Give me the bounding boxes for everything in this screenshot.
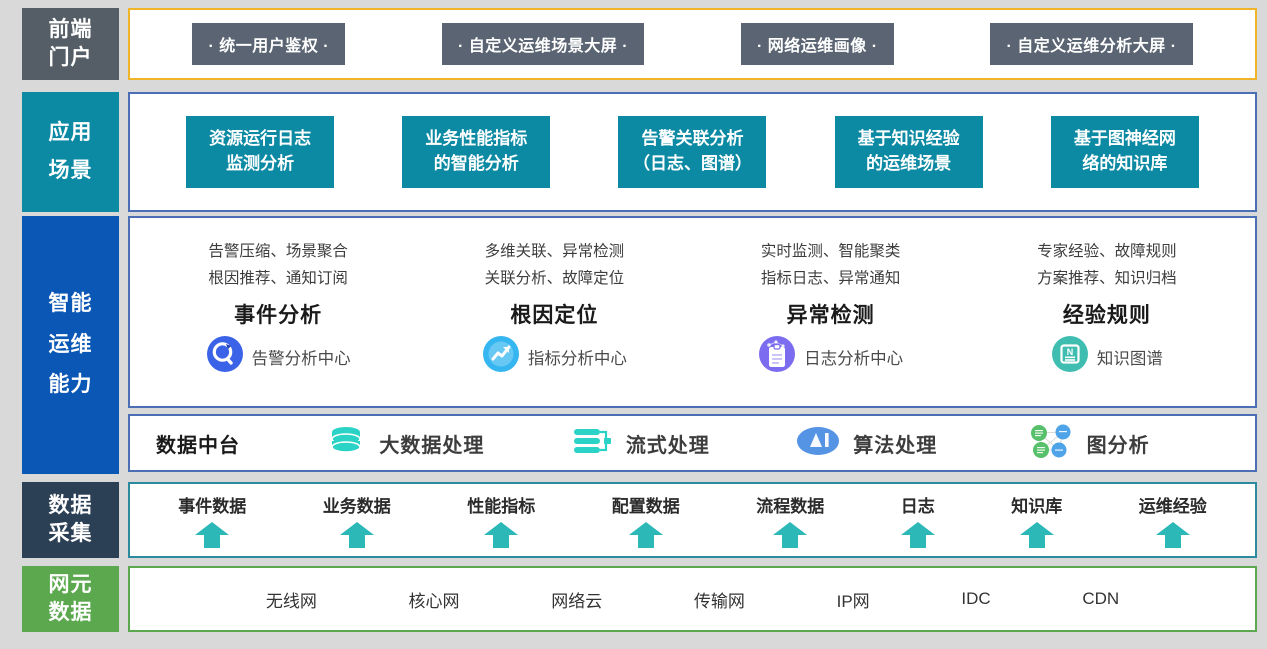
capability-title-anomaly-detection: 异常检测 <box>787 299 875 329</box>
app-chip-alarm-correlation[interactable]: 告警关联分析 （日志、图谱） <box>618 116 766 188</box>
layer-label-intelligent-ops-line1: 智能 <box>49 290 93 318</box>
collection-item-label: 事件数据 <box>178 492 246 517</box>
collection-item-label: 知识库 <box>1011 492 1062 517</box>
app-chip-gnn-knowledge-base-line2: 络的知识库 <box>1082 152 1167 177</box>
up-arrow-icon <box>629 522 663 548</box>
collection-item-label: 日志 <box>901 492 935 517</box>
capability-product-label: 告警分析中心 <box>252 345 351 369</box>
app-chip-alarm-correlation-line1: 告警关联分析 <box>641 127 743 152</box>
app-chip-knowledge-ops[interactable]: 基于知识经验 的运维场景 <box>835 116 983 188</box>
platform-item-label: 图分析 <box>1087 429 1150 458</box>
ne-item-core[interactable]: 核心网 <box>409 587 460 612</box>
ne-item-cdn[interactable]: CDN <box>1082 589 1119 609</box>
layer-label-data-collection: 数据 采集 <box>22 482 119 558</box>
up-arrow-icon <box>195 522 229 548</box>
ne-item-network-cloud[interactable]: 网络云 <box>551 587 602 612</box>
up-arrow-icon <box>1020 522 1054 548</box>
collection-item-label: 配置数据 <box>612 492 680 517</box>
app-chip-business-kpi-line1: 业务性能指标 <box>425 127 527 152</box>
capability-bullet: 方案推荐、知识归档 <box>1037 265 1177 292</box>
capability-product-label: 指标分析中心 <box>528 345 627 369</box>
layer-label-application-line2: 场景 <box>49 157 93 185</box>
alarm-search-icon <box>206 335 244 378</box>
layer-label-application-line1: 应用 <box>49 119 93 147</box>
layer-label-network-element-line1: 网元 <box>49 571 93 599</box>
capability-bullet: 关联分析、故障定位 <box>485 265 625 292</box>
capability-column-anomaly-detection: 实时监测、智能聚类 指标日志、异常通知 异常检测 <box>693 224 969 406</box>
layer-label-portal-line1: 前端 <box>49 16 93 44</box>
layer-label-intelligent-ops-line2: 运维 <box>49 331 93 359</box>
stream-icon <box>570 424 614 463</box>
app-chip-alarm-correlation-line2: （日志、图谱） <box>633 152 752 177</box>
network-element-content: 无线网 核心网 网络云 传输网 IP网 IDC CDN <box>128 566 1257 632</box>
architecture-diagram: 前端 门户 · 统一用户鉴权 · · 自定义运维场景大屏 · · 网络运维画像 … <box>0 0 1267 649</box>
capability-bullet: 专家经验、故障规则 <box>1037 238 1177 265</box>
log-clipboard-icon <box>758 335 796 378</box>
capability-bullet: 多维关联、异常检测 <box>485 238 625 265</box>
capability-product-label: 日志分析中心 <box>804 345 903 369</box>
app-chip-resource-log[interactable]: 资源运行日志 监测分析 <box>186 116 334 188</box>
capability-product-alarm-center[interactable]: 告警分析中心 <box>206 335 351 378</box>
layer-label-network-element-line2: 数据 <box>49 599 93 627</box>
ne-item-transport[interactable]: 传输网 <box>694 587 745 612</box>
up-arrow-icon <box>340 522 374 548</box>
database-icon <box>325 424 367 463</box>
collection-item-logs[interactable]: 日志 <box>901 492 935 548</box>
capability-title-experience-rules: 经验规则 <box>1063 299 1151 329</box>
capability-product-label: 知识图谱 <box>1097 345 1163 369</box>
data-platform-panel: 数据中台 大数据处理 <box>128 414 1257 472</box>
app-chip-business-kpi[interactable]: 业务性能指标 的智能分析 <box>402 116 550 188</box>
ai-icon <box>795 424 841 463</box>
collection-item-performance-kpi[interactable]: 性能指标 <box>467 492 535 548</box>
layer-row-portal: 前端 门户 · 统一用户鉴权 · · 自定义运维场景大屏 · · 网络运维画像 … <box>22 8 1257 80</box>
app-chip-gnn-knowledge-base-line1: 基于图神经网 <box>1074 127 1176 152</box>
app-chip-resource-log-line2: 监测分析 <box>226 152 294 177</box>
layer-label-portal-line2: 门户 <box>49 44 93 72</box>
layer-row-data-collection: 数据 采集 事件数据 业务数据 性能指标 配置数据 流程数据 <box>22 482 1257 558</box>
collection-item-event-data[interactable]: 事件数据 <box>178 492 246 548</box>
capability-title-root-cause: 根因定位 <box>510 299 598 329</box>
app-chip-knowledge-ops-line1: 基于知识经验 <box>858 127 960 152</box>
collection-item-knowledge-base[interactable]: 知识库 <box>1011 492 1062 548</box>
capability-bullet: 根因推荐、通知订阅 <box>208 265 348 292</box>
ops-stack: 告警压缩、场景聚合 根因推荐、通知订阅 事件分析 告警分析中心 <box>128 216 1257 474</box>
data-collection-content: 事件数据 业务数据 性能指标 配置数据 流程数据 日志 <box>128 482 1257 558</box>
up-arrow-icon <box>484 522 518 548</box>
knowledge-graph-icon: N <box>1051 335 1089 378</box>
ne-item-ip-network[interactable]: IP网 <box>837 587 870 612</box>
capability-column-root-cause: 多维关联、异常检测 关联分析、故障定位 根因定位 指标分析中心 <box>416 224 692 406</box>
platform-item-graph[interactable]: 图分析 <box>1023 422 1150 465</box>
portal-chip-custom-analysis-screen[interactable]: · 自定义运维分析大屏 · <box>990 23 1192 65</box>
layer-label-data-collection-line2: 采集 <box>49 520 93 548</box>
capability-bullet: 指标日志、异常通知 <box>761 265 901 292</box>
layer-row-intelligent-ops: 智能 运维 能力 告警压缩、场景聚合 根因推荐、通知订阅 事件分析 <box>22 216 1257 474</box>
layer-label-portal: 前端 门户 <box>22 8 119 80</box>
collection-item-label: 运维经验 <box>1139 492 1207 517</box>
platform-item-label: 算法处理 <box>853 429 937 458</box>
collection-item-ops-experience[interactable]: 运维经验 <box>1139 492 1207 548</box>
collection-item-config-data[interactable]: 配置数据 <box>612 492 680 548</box>
platform-item-stream[interactable]: 流式处理 <box>570 424 710 463</box>
platform-item-bigdata[interactable]: 大数据处理 <box>325 424 484 463</box>
capability-bullet: 告警压缩、场景聚合 <box>208 238 348 265</box>
platform-item-label: 流式处理 <box>626 429 710 458</box>
application-content: 资源运行日志 监测分析 业务性能指标 的智能分析 告警关联分析 （日志、图谱） … <box>128 92 1257 212</box>
ne-item-wireless[interactable]: 无线网 <box>266 587 317 612</box>
layer-label-intelligent-ops-line3: 能力 <box>49 371 93 399</box>
app-chip-resource-log-line1: 资源运行日志 <box>209 127 311 152</box>
collection-item-process-data[interactable]: 流程数据 <box>756 492 824 548</box>
data-platform-title: 数据中台 <box>156 429 240 458</box>
up-arrow-icon <box>901 522 935 548</box>
capability-product-metric-center[interactable]: 指标分析中心 <box>482 335 627 378</box>
up-arrow-icon <box>1156 522 1190 548</box>
metric-trend-icon <box>482 335 520 378</box>
portal-content: · 统一用户鉴权 · · 自定义运维场景大屏 · · 网络运维画像 · · 自定… <box>128 8 1257 80</box>
layer-label-data-collection-line1: 数据 <box>49 492 93 520</box>
layer-label-application: 应用 场景 <box>22 92 119 212</box>
capability-product-knowledge-graph[interactable]: N 知识图谱 <box>1051 335 1163 378</box>
layer-label-network-element: 网元 数据 <box>22 566 119 632</box>
collection-item-label: 性能指标 <box>467 492 535 517</box>
layer-row-application: 应用 场景 资源运行日志 监测分析 业务性能指标 的智能分析 告警关联分析 （日… <box>22 92 1257 212</box>
platform-item-label: 大数据处理 <box>379 429 484 458</box>
app-chip-gnn-knowledge-base[interactable]: 基于图神经网 络的知识库 <box>1051 116 1199 188</box>
portal-chip-custom-scene-screen[interactable]: · 自定义运维场景大屏 · <box>442 23 644 65</box>
graph-network-icon <box>1023 422 1075 465</box>
portal-chip-network-profile[interactable]: · 网络运维画像 · <box>741 23 894 65</box>
layer-label-intelligent-ops: 智能 运维 能力 <box>22 216 119 474</box>
layer-row-network-element: 网元 数据 无线网 核心网 网络云 传输网 IP网 IDC CDN <box>22 566 1257 632</box>
ops-capability-panel: 告警压缩、场景聚合 根因推荐、通知订阅 事件分析 告警分析中心 <box>128 216 1257 408</box>
collection-item-business-data[interactable]: 业务数据 <box>323 492 391 548</box>
capability-product-log-center[interactable]: 日志分析中心 <box>758 335 903 378</box>
up-arrow-icon <box>773 522 807 548</box>
capability-title-event-analysis: 事件分析 <box>234 299 322 329</box>
app-chip-knowledge-ops-line2: 的运维场景 <box>866 152 951 177</box>
capability-bullet: 实时监测、智能聚类 <box>761 238 901 265</box>
ne-item-idc[interactable]: IDC <box>961 589 990 609</box>
svg-text:N: N <box>1067 347 1074 357</box>
platform-item-algorithm[interactable]: 算法处理 <box>795 424 937 463</box>
portal-chip-auth[interactable]: · 统一用户鉴权 · <box>192 23 345 65</box>
capability-column-experience-rules: 专家经验、故障规则 方案推荐、知识归档 经验规则 N <box>969 224 1245 406</box>
app-chip-business-kpi-line2: 的智能分析 <box>434 152 519 177</box>
capability-column-event-analysis: 告警压缩、场景聚合 根因推荐、通知订阅 事件分析 告警分析中心 <box>140 224 416 406</box>
collection-item-label: 流程数据 <box>756 492 824 517</box>
collection-item-label: 业务数据 <box>323 492 391 517</box>
